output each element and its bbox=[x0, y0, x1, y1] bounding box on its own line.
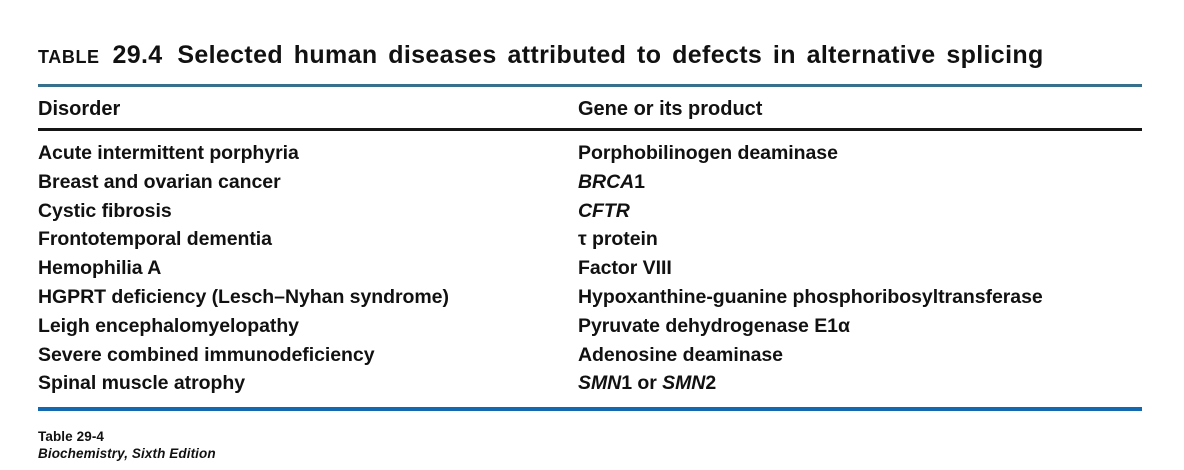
cell-gene-italic: CFTR bbox=[578, 200, 630, 222]
cell-gene-plain: Factor VIII bbox=[578, 257, 672, 279]
caption-table-number: Table 29-4 bbox=[38, 428, 638, 445]
table-title-number: 29.4 bbox=[112, 41, 162, 69]
cell-gene-italic-2: SMN bbox=[662, 372, 705, 394]
column-header-disorder: Disorder bbox=[38, 96, 578, 122]
table-body: Acute intermittent porphyria Porphobilin… bbox=[38, 140, 1142, 399]
cell-disorder: Leigh encephalomyelopathy bbox=[38, 313, 578, 339]
table-row: Severe combined immunodeficiency Adenosi… bbox=[38, 342, 1142, 371]
table-row: Frontotemporal dementia τ protein bbox=[38, 226, 1142, 255]
table-header-row: Disorder Gene or its product bbox=[38, 96, 1142, 126]
cell-disorder: Frontotemporal dementia bbox=[38, 226, 578, 252]
cell-gene: Porphobilinogen deaminase bbox=[578, 140, 1142, 166]
rule-below-header bbox=[38, 128, 1142, 131]
cell-gene-plain: τ protein bbox=[578, 228, 658, 250]
cell-gene: Factor VIII bbox=[578, 255, 1142, 281]
table-title: TABLE 29.4 Selected human diseases attri… bbox=[38, 42, 1142, 70]
cell-gene-plain: Hypoxanthine-guanine phosphoribosyltrans… bbox=[578, 286, 1043, 308]
table-row: Breast and ovarian cancer BRCA1 bbox=[38, 169, 1142, 198]
cell-disorder: Breast and ovarian cancer bbox=[38, 169, 578, 195]
cell-gene-italic: SMN bbox=[578, 372, 621, 394]
table-figure: TABLE 29.4 Selected human diseases attri… bbox=[0, 0, 1184, 470]
cell-gene: BRCA1 bbox=[578, 169, 1142, 195]
cell-disorder: Acute intermittent porphyria bbox=[38, 140, 578, 166]
table-row: Leigh encephalomyelopathy Pyruvate dehyd… bbox=[38, 313, 1142, 342]
column-header-gene: Gene or its product bbox=[578, 96, 1142, 122]
cell-gene-plain: Pyruvate dehydrogenase E1α bbox=[578, 315, 850, 337]
figure-caption: Table 29-4 Biochemistry, Sixth Edition bbox=[38, 428, 638, 462]
rule-table-bottom bbox=[38, 407, 1142, 411]
table-row: Spinal muscle atrophy SMN1 or SMN2 bbox=[38, 370, 1142, 399]
cell-gene: SMN1 or SMN2 bbox=[578, 370, 1142, 396]
cell-gene: Hypoxanthine-guanine phosphoribosyltrans… bbox=[578, 284, 1142, 310]
cell-gene: τ protein bbox=[578, 226, 1142, 252]
cell-gene-suffix-2: 2 bbox=[705, 372, 716, 394]
table-row: Hemophilia A Factor VIII bbox=[38, 255, 1142, 284]
rule-above-header bbox=[38, 84, 1142, 87]
cell-gene-suffix: 1 bbox=[634, 171, 645, 193]
table-title-text: Selected human diseases attributed to de… bbox=[177, 41, 1043, 69]
cell-gene-plain: Porphobilinogen deaminase bbox=[578, 142, 838, 164]
cell-gene: Adenosine deaminase bbox=[578, 342, 1142, 368]
table-title-label: TABLE bbox=[38, 41, 100, 69]
cell-disorder: HGPRT deficiency (Lesch–Nyhan syndrome) bbox=[38, 284, 578, 310]
table-row: Acute intermittent porphyria Porphobilin… bbox=[38, 140, 1142, 169]
cell-disorder: Spinal muscle atrophy bbox=[38, 370, 578, 396]
caption-source-title: Biochemistry, Sixth Edition bbox=[38, 445, 638, 462]
cell-gene: Pyruvate dehydrogenase E1α bbox=[578, 313, 1142, 339]
cell-gene-suffix: 1 or bbox=[621, 372, 662, 394]
cell-gene-plain: Adenosine deaminase bbox=[578, 344, 783, 366]
table-row: HGPRT deficiency (Lesch–Nyhan syndrome) … bbox=[38, 284, 1142, 313]
cell-disorder: Severe combined immunodeficiency bbox=[38, 342, 578, 368]
cell-gene-italic: BRCA bbox=[578, 171, 634, 193]
cell-gene: CFTR bbox=[578, 198, 1142, 224]
cell-disorder: Hemophilia A bbox=[38, 255, 578, 281]
cell-disorder: Cystic fibrosis bbox=[38, 198, 578, 224]
table-row: Cystic fibrosis CFTR bbox=[38, 198, 1142, 227]
